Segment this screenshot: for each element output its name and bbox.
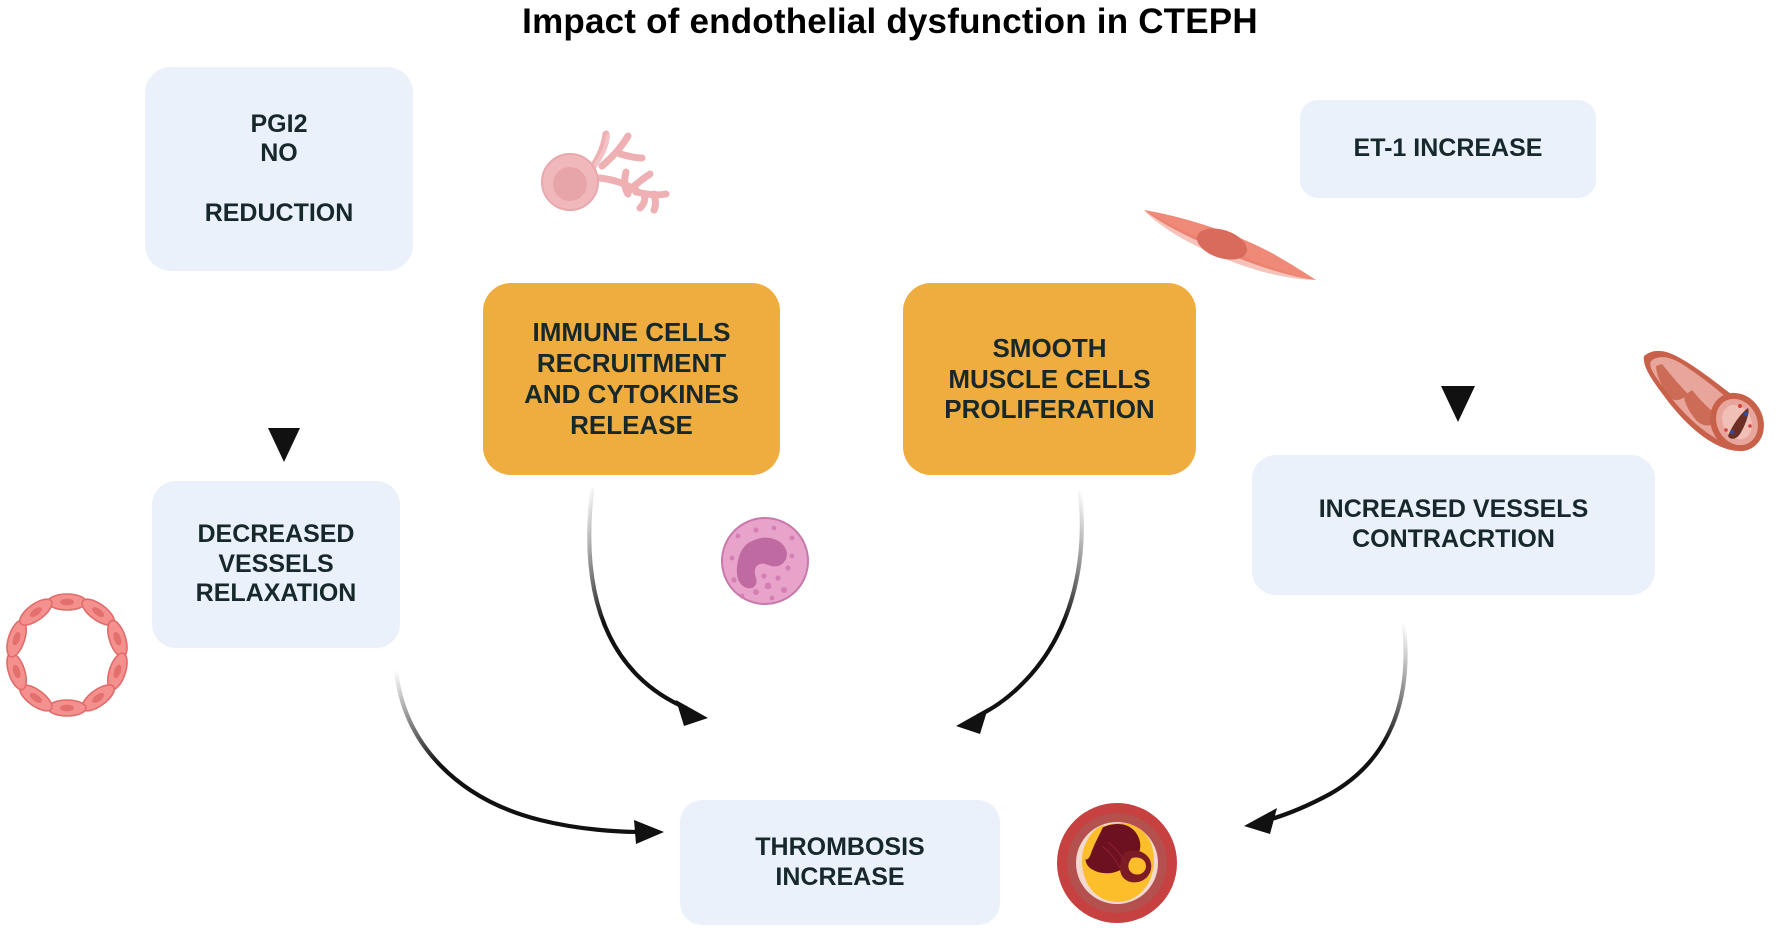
node-et1-increase[interactable]: ET-1 INCREASE <box>1300 100 1596 198</box>
arrow-pgi2-to-decreased <box>268 318 300 462</box>
constricted-vessel-illustration <box>1640 340 1780 458</box>
vessel-ring-illustration <box>0 588 134 722</box>
thrombus-vessel-illustration <box>1052 798 1182 928</box>
node-smooth-muscle-cells[interactable]: SMOOTH MUSCLE CELLS PROLIFERATION <box>903 283 1196 475</box>
page-title: Impact of endothelial dysfunction in CTE… <box>0 2 1780 42</box>
arrow-increased-to-thrombosis <box>1244 625 1406 834</box>
node-decreased-relaxation[interactable]: DECREASED VESSELS RELAXATION <box>152 481 400 648</box>
arrow-decreased-to-thrombosis <box>396 670 664 844</box>
leukocyte-cell-illustration <box>712 508 818 614</box>
node-pgi2-reduction[interactable]: PGI2 NO REDUCTION <box>145 67 413 271</box>
node-immune-cells[interactable]: IMMUNE CELLS RECRUITMENT AND CYTOKINES R… <box>483 283 780 475</box>
smooth-muscle-cell-illustration <box>1138 196 1323 292</box>
node-thrombosis-increase[interactable]: THROMBOSIS INCREASE <box>680 800 1000 925</box>
arrow-smc-to-thrombosis <box>956 492 1082 734</box>
arrow-immune-to-thrombosis <box>589 490 708 726</box>
node-increased-contraction[interactable]: INCREASED VESSELS CONTRACRTION <box>1252 455 1655 595</box>
figure-canvas: Impact of endothelial dysfunction in CTE… <box>0 0 1780 939</box>
arrow-et1-to-increased <box>1441 212 1475 422</box>
dendritic-cell-illustration <box>540 112 690 232</box>
